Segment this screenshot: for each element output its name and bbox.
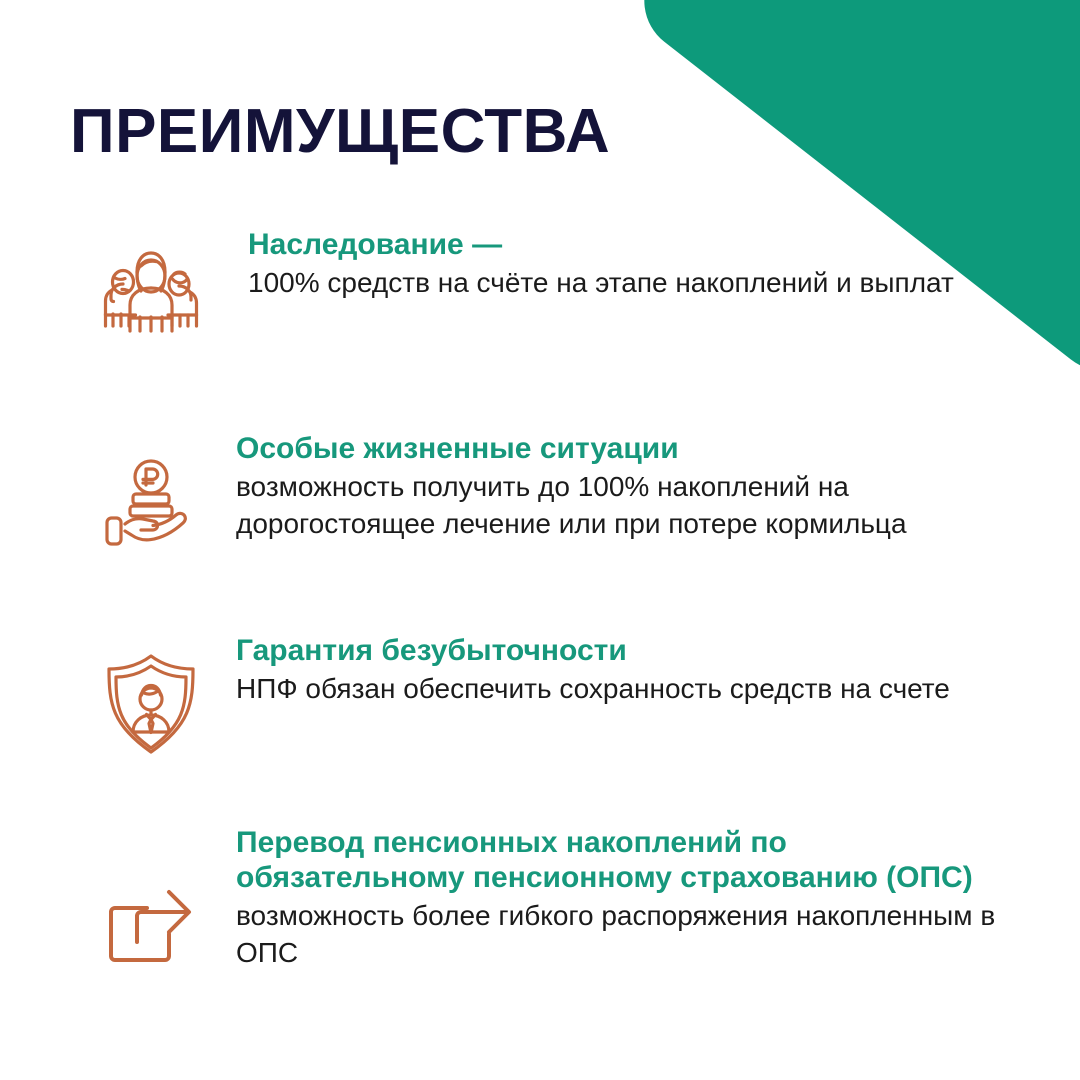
benefit-text: возможность получить до 100% накоплений … [236, 469, 1020, 543]
benefit-body: Наследование — 100% средств на счёте на … [212, 228, 1080, 302]
benefit-item: Наследование — 100% средств на счёте на … [90, 228, 1080, 336]
benefit-item: Перевод пенсионных накоплений по обязате… [90, 826, 1080, 972]
benefit-body: Перевод пенсионных накоплений по обязате… [212, 826, 1080, 972]
hand-with-ruble-coins-icon [90, 432, 212, 554]
benefit-heading: Гарантия безубыточности [236, 634, 1020, 669]
benefit-heading: Перевод пенсионных накоплений по обязате… [236, 826, 1020, 896]
benefit-heading: Наследование — [248, 228, 1020, 263]
benefit-text: 100% средств на счёте на этапе накоплени… [248, 265, 1020, 302]
slide-root: ПРЕИМУЩЕСТВА [0, 0, 1080, 1080]
benefit-body: Особые жизненные ситуации возможность по… [212, 432, 1080, 543]
shield-with-person-icon [90, 634, 212, 756]
share-export-arrow-icon [90, 826, 212, 966]
benefit-text: возможность более гибкого распоряжения н… [236, 898, 1020, 972]
benefit-body: Гарантия безубыточности НПФ обязан обесп… [212, 634, 1080, 708]
benefit-text: НПФ обязан обеспечить сохранность средст… [236, 671, 1020, 708]
benefit-item: Гарантия безубыточности НПФ обязан обесп… [90, 634, 1080, 756]
page-title: ПРЕИМУЩЕСТВА [70, 99, 610, 164]
benefit-item: Особые жизненные ситуации возможность по… [90, 432, 1080, 554]
benefit-heading: Особые жизненные ситуации [236, 432, 1020, 467]
family-group-icon [90, 228, 212, 336]
benefits-list: Наследование — 100% средств на счёте на … [0, 228, 1080, 972]
